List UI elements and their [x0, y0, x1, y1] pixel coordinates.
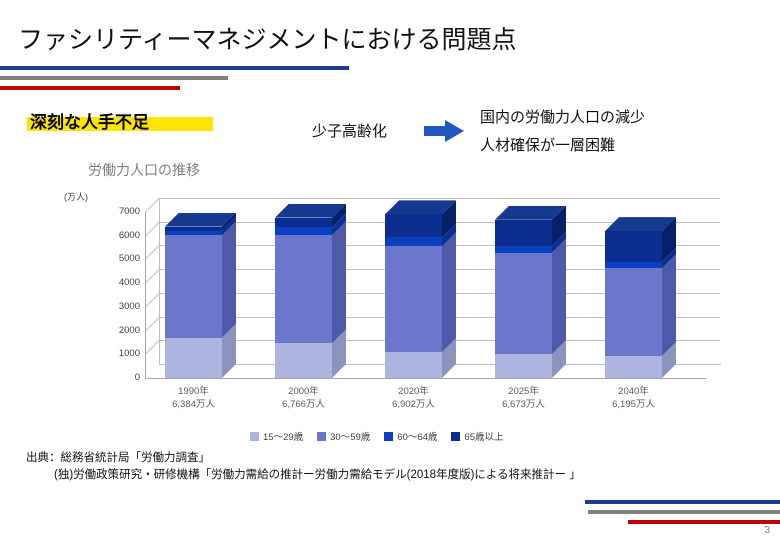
y-tick-label: 1000	[119, 348, 140, 359]
x-tick-year: 2020年	[371, 385, 456, 398]
header-rule-gray	[0, 76, 228, 80]
legend-swatch	[250, 432, 259, 441]
segment-side	[442, 232, 456, 352]
x-tick-label: 2025年6,673万人	[481, 385, 566, 411]
x-tick-total: 6,902万人	[371, 398, 456, 411]
segment-face	[165, 338, 222, 378]
bar-segment	[165, 227, 222, 231]
legend-label: 65歳以上	[464, 429, 503, 443]
bar-segment	[275, 235, 332, 343]
segment-side	[552, 239, 566, 354]
chart-legend: 15～29歳30～59歳60～64歳65歳以上	[250, 429, 504, 443]
bar-2025年	[495, 220, 552, 378]
bar-segment	[605, 231, 662, 262]
bar-2000年	[275, 218, 332, 378]
effects-text: 国内の労働力人口の減少 人材確保が一層困難	[480, 104, 645, 160]
x-tick-year: 2025年	[481, 385, 566, 398]
bar-segment	[495, 246, 552, 253]
bar-segment	[385, 214, 442, 237]
bar-segment	[495, 253, 552, 354]
footer-rule-red	[628, 520, 780, 524]
segment-side	[222, 221, 236, 337]
x-tick-label: 1990年6,384万人	[151, 385, 236, 411]
segment-face	[495, 246, 552, 253]
y-tick-label: 6000	[119, 230, 140, 241]
x-tick-year: 2040年	[591, 385, 676, 398]
segment-face	[385, 237, 442, 246]
page-number: 3	[764, 525, 770, 536]
segment-side	[662, 254, 676, 356]
x-tick-label: 2000年6,766万人	[261, 385, 346, 411]
bar-segment	[385, 352, 442, 378]
headline-callout: 深刻な人手不足	[30, 108, 149, 133]
labor-force-chart: (万人) 70006000500040003000200010000 1990年…	[60, 190, 720, 420]
legend-label: 60～64歳	[397, 429, 437, 443]
legend-item: 30～59歳	[317, 429, 370, 443]
legend-swatch	[384, 432, 393, 441]
y-tick-label: 7000	[119, 206, 140, 217]
segment-face	[495, 354, 552, 378]
segment-face	[165, 227, 222, 231]
header-rule-red	[0, 86, 180, 90]
bar-segment	[605, 262, 662, 268]
segment-face	[605, 231, 662, 262]
segment-face	[605, 356, 662, 378]
segment-face	[165, 235, 222, 337]
bar-segment	[165, 338, 222, 378]
x-tick-total: 6,384万人	[151, 398, 236, 411]
x-tick-total: 6,766万人	[261, 398, 346, 411]
source-note: 出典：総務省統計局「労働力調査」 (独)労働政策研究・研修機構「労働力需給の推計…	[26, 450, 581, 484]
segment-face	[605, 268, 662, 356]
segment-face	[385, 246, 442, 352]
effect-line-1: 国内の労働力人口の減少	[480, 104, 645, 132]
legend-item: 60～64歳	[384, 429, 437, 443]
x-tick-year: 2000年	[261, 385, 346, 398]
legend-label: 30～59歳	[330, 429, 370, 443]
segment-face	[605, 262, 662, 268]
bar-segment	[165, 231, 222, 236]
footer-rule-blue	[585, 500, 780, 504]
x-tick-year: 1990年	[151, 385, 236, 398]
effect-line-2: 人材確保が一層困難	[480, 132, 645, 160]
y-tick-label: 4000	[119, 277, 140, 288]
x-tick-label: 2040年6,195万人	[591, 385, 676, 411]
source-line-2: (独)労働政策研究・研修機構「労働力需給の推計ー労働力需給モデル(2018年度版…	[54, 467, 581, 484]
cause-text: 少子高齢化	[312, 120, 387, 141]
y-tick-label: 3000	[119, 301, 140, 312]
source-line-1: 出典：総務省統計局「労働力調査」	[26, 452, 210, 464]
segment-face	[165, 231, 222, 236]
bar-2020年	[385, 214, 442, 378]
segment-side	[332, 221, 346, 343]
bar-segment	[495, 220, 552, 246]
y-tick-label: 0	[135, 372, 140, 383]
footer-rule-gray	[588, 510, 780, 514]
segment-face	[385, 352, 442, 378]
segment-face	[275, 227, 332, 235]
bar-segment	[275, 343, 332, 378]
x-tick-label: 2020年6,902万人	[371, 385, 456, 411]
slide: ファシリティーマネジメントにおける問題点 深刻な人手不足 少子高齢化 国内の労働…	[0, 0, 780, 540]
bar-segment	[275, 227, 332, 235]
legend-item: 15～29歳	[250, 429, 303, 443]
bar-segment	[385, 237, 442, 246]
bar-segment	[385, 246, 442, 352]
bar-segment	[165, 235, 222, 337]
legend-swatch	[451, 432, 460, 441]
segment-face	[275, 343, 332, 378]
y-tick-label: 5000	[119, 253, 140, 264]
y-tick-label: 2000	[119, 325, 140, 336]
bar-segment	[605, 356, 662, 378]
legend-item: 65歳以上	[451, 429, 503, 443]
bar-2040年	[605, 231, 662, 378]
bar-segment	[275, 218, 332, 228]
legend-label: 15～29歳	[263, 429, 303, 443]
bar-segment	[605, 268, 662, 356]
page-title: ファシリティーマネジメントにおける問題点	[18, 20, 517, 56]
segment-face	[275, 218, 332, 228]
y-tick-labels: 70006000500040003000200010000	[60, 190, 140, 420]
x-tick-total: 6,673万人	[481, 398, 566, 411]
right-arrow-icon	[424, 120, 464, 142]
legend-swatch	[317, 432, 326, 441]
segment-face	[495, 253, 552, 354]
x-tick-total: 6,195万人	[591, 398, 676, 411]
chart-title: 労働力人口の推移	[88, 160, 200, 180]
bar-1990年	[165, 227, 222, 378]
bar-segment	[495, 354, 552, 378]
segment-face	[275, 235, 332, 343]
header-rule-blue	[0, 66, 349, 70]
headline-text: 深刻な人手不足	[30, 108, 149, 133]
segment-face	[495, 220, 552, 246]
segment-face	[385, 214, 442, 237]
